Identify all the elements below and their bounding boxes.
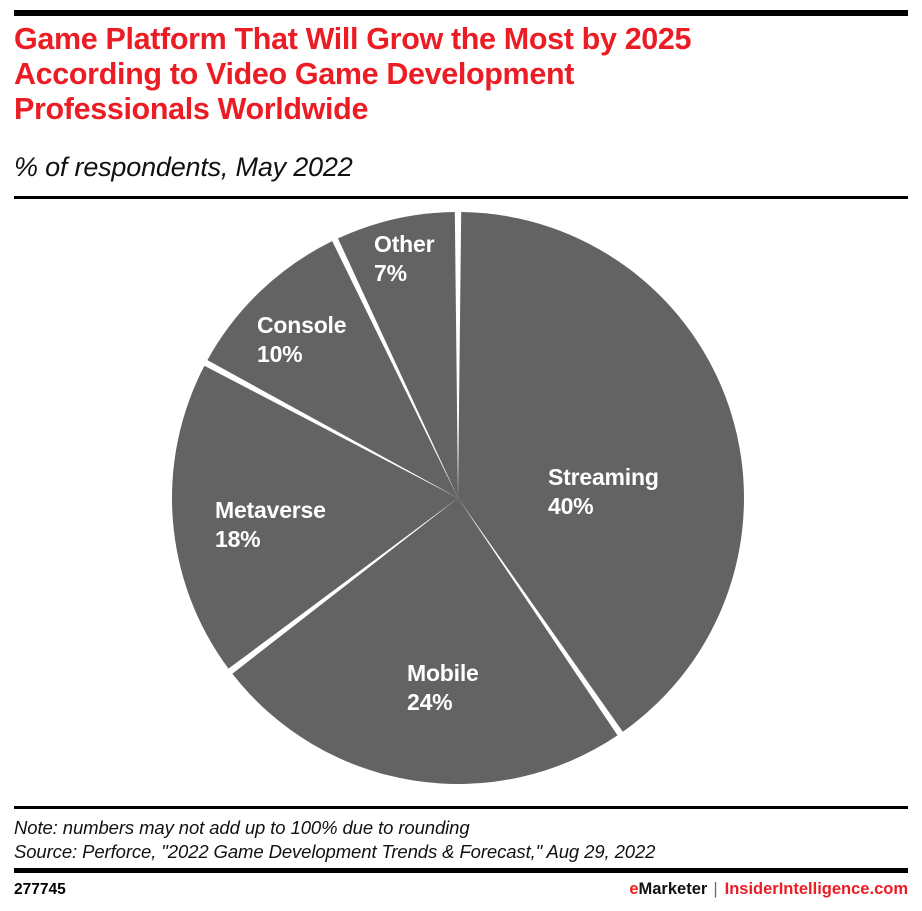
pie-label-console-value: 10%	[257, 340, 346, 369]
title-line-1: Game Platform That Will Grow the Most by…	[14, 22, 894, 57]
brand-lockup: eMarketer|InsiderIntelligence.com	[629, 880, 908, 899]
pie-label-other-value: 7%	[374, 259, 434, 288]
page-title: Game Platform That Will Grow the Most by…	[14, 22, 894, 127]
footer-rule	[14, 868, 908, 873]
top-rule	[14, 10, 908, 16]
pie-label-metaverse: Metaverse 18%	[215, 496, 326, 554]
pie-label-streaming: Streaming 40%	[548, 463, 659, 521]
chart-subtitle: % of respondents, May 2022	[14, 152, 353, 183]
title-line-3: Professionals Worldwide	[14, 92, 894, 127]
chart-page: Game Platform That Will Grow the Most by…	[0, 0, 922, 911]
note-rule	[14, 806, 908, 809]
pie-label-mobile-name: Mobile	[407, 659, 479, 688]
pie-label-streaming-value: 40%	[548, 492, 659, 521]
pie-label-console: Console 10%	[257, 311, 346, 369]
pie-label-mobile: Mobile 24%	[407, 659, 479, 717]
pie-label-metaverse-name: Metaverse	[215, 496, 326, 525]
brand-emarketer-rest: Marketer	[639, 880, 708, 898]
pie-chart: Streaming 40% Mobile 24% Metaverse 18% C…	[0, 199, 922, 806]
pie-label-streaming-name: Streaming	[548, 463, 659, 492]
brand-separator: |	[707, 880, 724, 898]
pie-label-other-name: Other	[374, 230, 434, 259]
chart-id: 277745	[14, 881, 66, 899]
title-line-2: According to Video Game Development	[14, 57, 894, 92]
source-text: Source: Perforce, "2022 Game Development…	[14, 840, 655, 864]
brand-emarketer-e: e	[629, 880, 638, 898]
pie-label-console-name: Console	[257, 311, 346, 340]
pie-label-other: Other 7%	[374, 230, 434, 288]
pie-label-mobile-value: 24%	[407, 688, 479, 717]
brand-website[interactable]: InsiderIntelligence.com	[725, 880, 908, 898]
pie-label-metaverse-value: 18%	[215, 525, 326, 554]
note-text: Note: numbers may not add up to 100% due…	[14, 816, 655, 840]
chart-notes: Note: numbers may not add up to 100% due…	[14, 816, 655, 864]
